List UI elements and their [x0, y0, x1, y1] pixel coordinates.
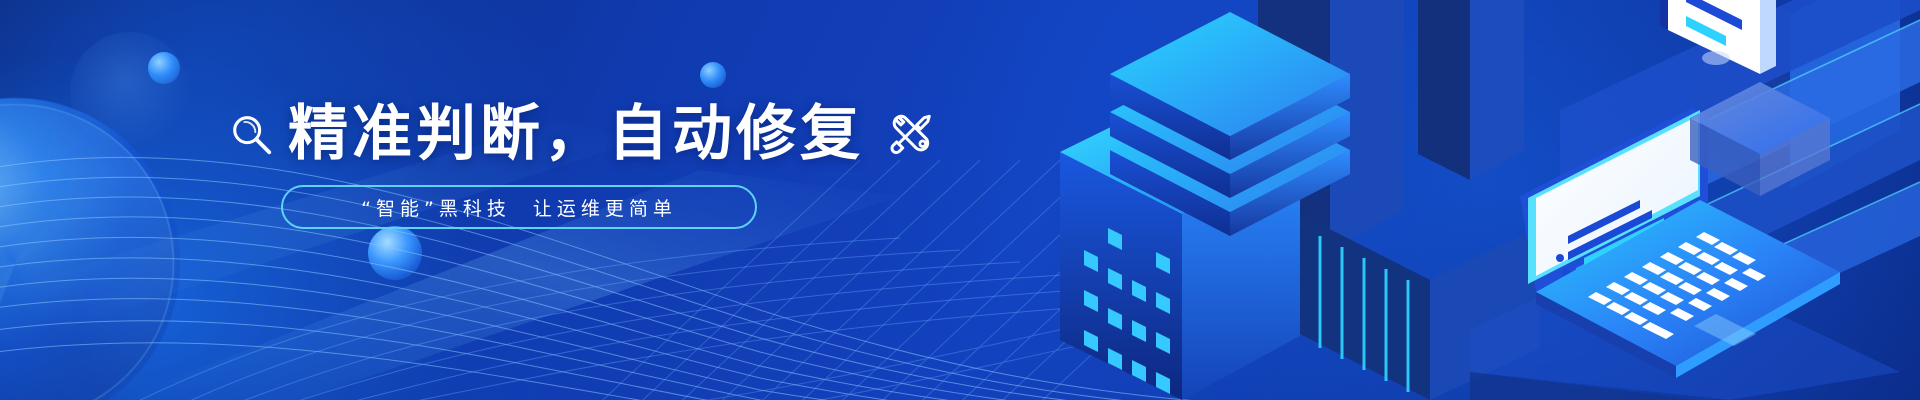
- bubble-medium-center: [368, 226, 422, 280]
- glass-globe-graphic: [0, 98, 180, 400]
- headline-row: 精准判断，自动修复: [228, 104, 938, 164]
- search-icon: [228, 111, 274, 157]
- subtitle-quote-close: ”: [424, 198, 439, 220]
- isometric-illustration: [1000, 0, 1920, 400]
- glow-blob: [70, 32, 190, 152]
- wrench-screwdriver-icon: [886, 108, 938, 160]
- page-title: 精准判断，自动修复: [288, 104, 864, 164]
- subtitle-keyword: 智能: [376, 198, 424, 220]
- subtitle-pill: “智能”黑科技让运维更简单: [281, 185, 757, 229]
- subtitle-part-a: 黑科技: [439, 198, 511, 220]
- subtitle-text: “智能”黑科技让运维更简单: [361, 194, 677, 221]
- bubble-small-top: [700, 62, 726, 88]
- subtitle-part-b: 让运维更简单: [533, 198, 677, 220]
- subtitle-quote-open: “: [361, 198, 376, 220]
- bubble-small-left: [148, 52, 180, 84]
- promo-banner: 精准判断，自动修复 “智能”黑科技让运维更简单: [0, 0, 1920, 400]
